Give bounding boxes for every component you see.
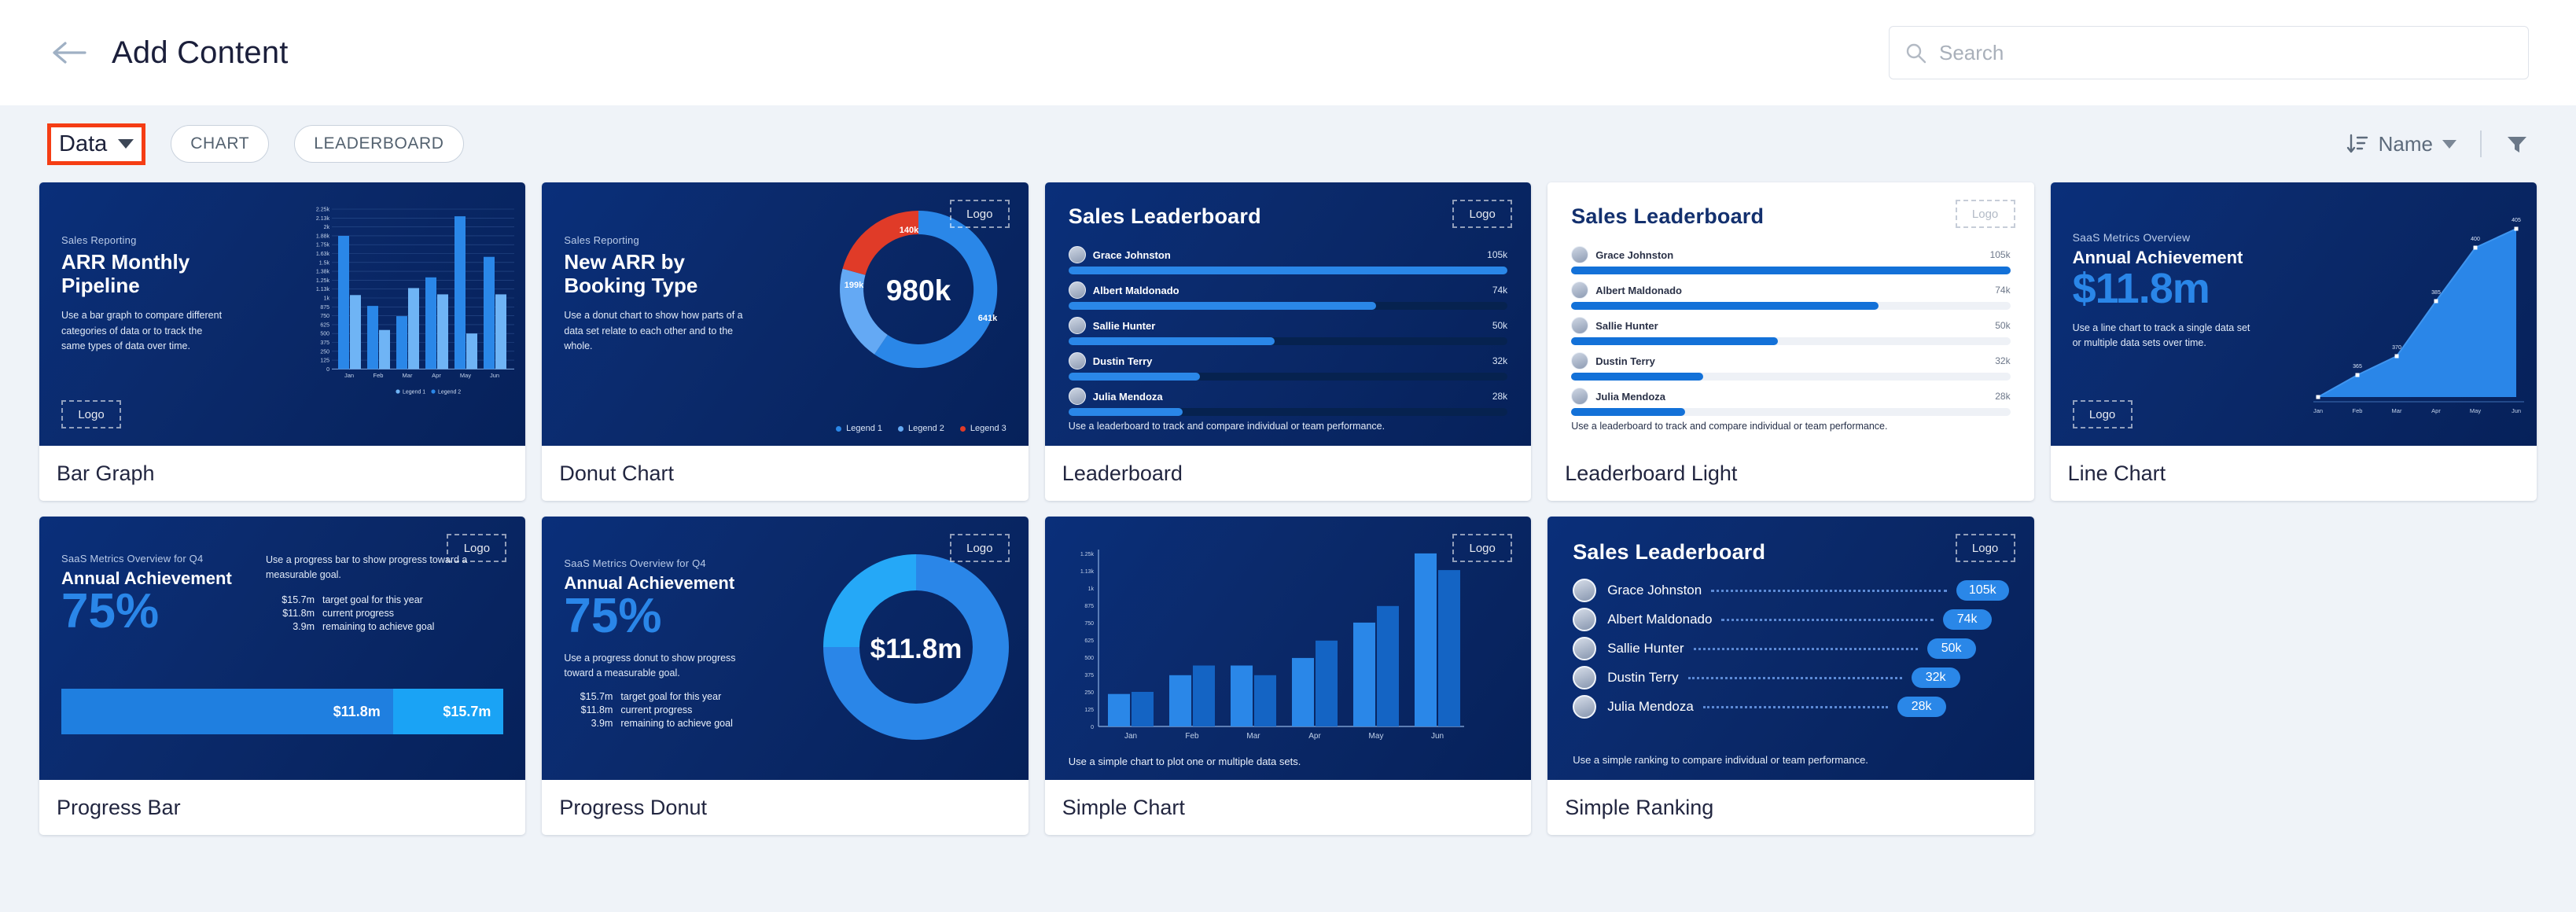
progress-donut-text: SaaS Metrics Overview for Q4 Annual Achi…	[564, 557, 743, 729]
big-number: $11.8m	[2073, 268, 2258, 310]
preview-simple-ranking: Sales Leaderboard Grace Johnston 105k Al…	[1547, 517, 2033, 780]
legend-item: Legend 1	[836, 424, 882, 433]
svg-text:625: 625	[321, 322, 330, 328]
svg-text:Jan: Jan	[2313, 407, 2323, 414]
svg-text:980k: 980k	[886, 274, 951, 307]
svg-text:Jun: Jun	[1431, 732, 1444, 741]
donut-legend: Legend 1 Legend 2 Legend 3	[836, 424, 1006, 433]
headline: New ARR by Booking Type	[564, 250, 745, 297]
sort-control[interactable]: Name	[2346, 132, 2456, 156]
blurb: Use a progress bar to show progress towa…	[266, 553, 470, 583]
logo-placeholder: Logo	[61, 400, 121, 428]
row-value: 105k	[1990, 249, 2011, 260]
row-name: Albert Maldonado	[1595, 285, 1995, 296]
progress-bar-text: SaaS Metrics Overview for Q4 Annual Achi…	[61, 553, 258, 635]
filter-bar: Data CHART LEADERBOARD Name	[0, 105, 2576, 182]
row-value: 74k	[1492, 285, 1507, 296]
leader-dots	[1711, 590, 1947, 592]
card-line-chart[interactable]: SaaS Metrics Overview Annual Achievement…	[2051, 182, 2537, 501]
progress-donut-graphic: $11.8m	[818, 543, 1014, 752]
svg-text:Feb: Feb	[1185, 732, 1199, 741]
row-name: Albert Maldonado	[1607, 612, 1712, 627]
progress-bar-graphic: $11.8m $15.7m	[61, 689, 503, 734]
row-name: Sallie Hunter	[1595, 320, 1995, 332]
svg-text:Jan: Jan	[1124, 732, 1137, 741]
row-value: 28k	[1995, 391, 2010, 402]
eyebrow: SaaS Metrics Overview for Q4	[61, 553, 258, 564]
blurb: Use a simple chart to plot one or multip…	[1069, 756, 1301, 767]
eyebrow: Sales Reporting	[564, 234, 745, 246]
svg-text:0: 0	[326, 367, 329, 373]
svg-text:370: 370	[2392, 345, 2401, 351]
filter-bar-right: Name	[2346, 105, 2529, 182]
sort-ascending-icon	[2346, 133, 2369, 155]
svg-text:Apr: Apr	[1308, 732, 1321, 741]
avatar	[1069, 281, 1086, 299]
card-leaderboard-light[interactable]: Sales Leaderboard Grace Johnston 105k Al…	[1547, 182, 2033, 501]
stat-row: $11.8m current progress	[564, 704, 743, 715]
ranking-row: Julia Mendoza 28k	[1573, 695, 2008, 719]
leaderboard-row: Julia Mendoza 28k	[1069, 388, 1507, 416]
row-name: Dustin Terry	[1595, 355, 1995, 367]
row-name: Dustin Terry	[1093, 355, 1492, 367]
svg-text:1.38k: 1.38k	[316, 270, 330, 275]
ranking-row: Grace Johnston 105k	[1573, 579, 2008, 602]
row-name: Sallie Hunter	[1093, 320, 1492, 332]
svg-text:May: May	[1368, 732, 1383, 741]
card-title: Simple Ranking	[1547, 780, 2033, 835]
stat-row: $11.8m current progress	[266, 608, 470, 619]
row-value: 74k	[1943, 609, 1992, 630]
legend-label: Legend 1	[846, 424, 882, 433]
preview-progress-donut: SaaS Metrics Overview for Q4 Annual Achi…	[542, 517, 1028, 780]
stat-row: 3.9m remaining to achieve goal	[266, 621, 470, 632]
stat-value: $11.8m	[266, 608, 315, 619]
logo-placeholder: Logo	[2073, 400, 2133, 428]
svg-text:Jun: Jun	[490, 372, 499, 379]
avatar	[1571, 317, 1588, 334]
eyebrow: Sales Reporting	[61, 234, 226, 246]
svg-text:1k: 1k	[1087, 587, 1094, 592]
legend-label: Legend 3	[970, 424, 1006, 433]
legend-dot-icon	[836, 426, 841, 432]
svg-text:400: 400	[2471, 237, 2480, 242]
logo-placeholder: Logo	[1452, 200, 1512, 228]
leaderboard-row: Julia Mendoza 28k	[1571, 388, 2010, 416]
page-title: Add Content	[112, 35, 289, 71]
leaderboard-row: Dustin Terry 32k	[1571, 352, 2010, 381]
svg-text:2.25k: 2.25k	[316, 208, 330, 213]
avatar	[1571, 281, 1588, 299]
stat-value: $11.8m	[564, 704, 613, 715]
leaderboard-row: Sallie Hunter 50k	[1571, 317, 2010, 345]
leaderboard-row: Albert Maldonado 74k	[1069, 281, 1507, 310]
preview-donut-chart: Sales Reporting New ARR by Booking Type …	[542, 182, 1028, 446]
eyebrow: SaaS Metrics Overview for Q4	[564, 557, 743, 569]
stat-row: $15.7m target goal for this year	[564, 691, 743, 702]
legend-label: Legend 2	[908, 424, 944, 433]
stat-text: target goal for this year	[620, 691, 721, 702]
svg-text:2k: 2k	[324, 225, 330, 230]
svg-text:Feb: Feb	[374, 372, 384, 379]
svg-text:Mar: Mar	[1246, 732, 1260, 741]
eyebrow: SaaS Metrics Overview	[2073, 231, 2258, 244]
svg-text:500: 500	[321, 332, 330, 337]
leaderboard-rows: Grace Johnston 105k Albert Maldonado 74k…	[1069, 246, 1507, 416]
back-arrow-icon[interactable]	[47, 31, 91, 75]
preview-line-chart: SaaS Metrics Overview Annual Achievement…	[2051, 182, 2537, 446]
avatar	[1069, 317, 1086, 334]
blurb: Use a simple ranking to compare individu…	[1573, 754, 1868, 766]
leader-dots	[1721, 619, 1933, 621]
blurb: Use a line chart to track a single data …	[2073, 321, 2258, 351]
donut-center-label: $11.8m	[870, 634, 962, 664]
row-name: Julia Mendoza	[1607, 699, 1694, 715]
svg-text:125: 125	[1084, 708, 1094, 713]
logo-placeholder: Logo	[1452, 534, 1512, 562]
svg-text:405: 405	[2512, 218, 2521, 223]
svg-text:250: 250	[321, 349, 330, 355]
progress-goal: $15.7m	[393, 689, 504, 734]
blurb: Use a bar graph to compare different cat…	[61, 308, 226, 354]
avatar	[1573, 695, 1596, 719]
svg-text:1.75k: 1.75k	[316, 243, 330, 248]
svg-text:Apr: Apr	[2431, 407, 2441, 414]
row-name: Dustin Terry	[1607, 670, 1678, 686]
card-leaderboard[interactable]: Sales Leaderboard Grace Johnston 105k Al…	[1045, 182, 1531, 501]
stat-text: current progress	[322, 608, 394, 619]
svg-text:199k: 199k	[845, 281, 864, 290]
stat-text: remaining to achieve goal	[322, 621, 434, 632]
row-value: 28k	[1492, 391, 1507, 402]
blurb: Use a leaderboard to track and compare i…	[1571, 421, 1887, 432]
svg-text:250: 250	[1084, 690, 1094, 696]
row-value: 50k	[1927, 638, 1976, 659]
avatar	[1571, 352, 1588, 370]
avatar	[1069, 246, 1086, 263]
svg-text:750: 750	[321, 314, 330, 319]
svg-text:Jan: Jan	[344, 372, 354, 379]
preview-bar-graph: Sales Reporting ARR Monthly Pipeline Use…	[39, 182, 525, 446]
chevron-down-icon	[118, 139, 134, 149]
stat-text: current progress	[620, 704, 692, 715]
legend-dot-icon	[898, 426, 903, 432]
search-icon	[1905, 42, 1926, 64]
row-value: 32k	[1912, 667, 1960, 688]
logo-placeholder: Logo	[950, 534, 1010, 562]
svg-text:875: 875	[1084, 604, 1094, 609]
headline: ARR Monthly Pipeline	[61, 250, 226, 297]
card-title: Leaderboard Light	[1547, 446, 2033, 501]
row-value: 28k	[1897, 697, 1946, 717]
content-grid: Sales Reporting ARR Monthly Pipeline Use…	[0, 182, 2576, 835]
avatar	[1571, 246, 1588, 263]
stat-value: 3.9m	[564, 718, 613, 729]
card-title: Bar Graph	[39, 446, 525, 501]
leader-dots	[1703, 706, 1888, 708]
ranking-row: Dustin Terry 32k	[1573, 666, 2008, 690]
leaderboard-rows: Grace Johnston 105k Albert Maldonado 74k…	[1571, 246, 2010, 416]
avatar	[1069, 388, 1086, 405]
avatar	[1573, 579, 1596, 602]
search-box[interactable]	[1889, 26, 2529, 79]
preview-simple-chart: 1.25k 1.13k 1k 875 750 625 500 375 250 1…	[1045, 517, 1531, 780]
row-name: Julia Mendoza	[1595, 391, 1995, 403]
chip-chart[interactable]: CHART	[171, 125, 269, 163]
row-value: 74k	[1995, 285, 2010, 296]
card-simple-ranking[interactable]: Sales Leaderboard Grace Johnston 105k Al…	[1547, 517, 2033, 835]
svg-text:Mar: Mar	[403, 372, 413, 379]
leaderboard-row: Grace Johnston 105k	[1069, 246, 1507, 274]
svg-text:1.13k: 1.13k	[316, 287, 330, 292]
svg-text:1.25k: 1.25k	[316, 278, 330, 284]
donut-chart-text: Sales Reporting New ARR by Booking Type …	[564, 234, 745, 354]
big-number: 75%	[61, 589, 258, 635]
svg-text:625: 625	[1084, 638, 1094, 644]
svg-text:125: 125	[321, 359, 330, 364]
svg-text:1k: 1k	[324, 296, 330, 302]
leaderboard-row: Albert Maldonado 74k	[1571, 281, 2010, 310]
svg-text:Apr: Apr	[432, 372, 442, 379]
stat-row: $15.7m target goal for this year	[266, 594, 470, 605]
logo-placeholder: Logo	[447, 534, 506, 562]
leader-dots	[1688, 677, 1902, 679]
bar-graph-text: Sales Reporting ARR Monthly Pipeline Use…	[61, 234, 226, 354]
card-title: Line Chart	[2051, 446, 2537, 501]
legend-item: Legend 3	[960, 424, 1006, 433]
bar-graph-chart: 2.25k 2.13k 2k 1.88k 1.75k 1.63k 1.5k 1.…	[304, 203, 516, 399]
svg-text:375: 375	[1084, 673, 1094, 678]
avatar	[1573, 666, 1596, 690]
card-title: Progress Donut	[542, 780, 1028, 835]
row-name: Julia Mendoza	[1093, 391, 1492, 403]
row-value: 32k	[1492, 355, 1507, 366]
avatar	[1069, 352, 1086, 370]
card-progress-bar[interactable]: SaaS Metrics Overview for Q4 Annual Achi…	[39, 517, 525, 835]
line-chart-text: SaaS Metrics Overview Annual Achievement…	[2073, 231, 2258, 351]
stat-value: 3.9m	[266, 621, 315, 632]
stat-row: 3.9m remaining to achieve goal	[564, 718, 743, 729]
line-chart-graphic: 365 370 385 400 405 Jan Feb Mar Apr May …	[2310, 200, 2530, 428]
svg-text:1.63k: 1.63k	[316, 252, 330, 257]
row-value: 105k	[1487, 249, 1507, 260]
preview-progress-bar: SaaS Metrics Overview for Q4 Annual Achi…	[39, 517, 525, 780]
card-simple-chart[interactable]: 1.25k 1.13k 1k 875 750 625 500 375 250 1…	[1045, 517, 1531, 835]
preview-leaderboard: Sales Leaderboard Grace Johnston 105k Al…	[1045, 182, 1531, 446]
svg-text:750: 750	[1084, 621, 1094, 627]
row-value: 50k	[1995, 320, 2010, 331]
legend-dot-icon	[960, 426, 966, 432]
row-value: 105k	[1956, 580, 2009, 601]
headline: Sales Leaderboard	[1069, 204, 1507, 229]
svg-text:375: 375	[321, 340, 330, 346]
progress-bar-stats: Use a progress bar to show progress towa…	[266, 553, 470, 632]
headline: Sales Leaderboard	[1571, 204, 2010, 229]
chip-leaderboard[interactable]: LEADERBOARD	[294, 125, 463, 163]
blurb: Use a donut chart to show how parts of a…	[564, 308, 745, 354]
logo-placeholder: Logo	[950, 200, 1010, 228]
card-title: Simple Chart	[1045, 780, 1531, 835]
avatar	[1573, 637, 1596, 660]
card-bar-graph[interactable]: Sales Reporting ARR Monthly Pipeline Use…	[39, 182, 525, 501]
funnel-icon[interactable]	[2505, 133, 2529, 155]
svg-text:500: 500	[1084, 656, 1094, 661]
svg-text:Jun: Jun	[2512, 407, 2521, 414]
row-name: Grace Johnston	[1595, 249, 1989, 261]
stat-text: target goal for this year	[322, 594, 423, 605]
logo-placeholder: Logo	[1956, 534, 2015, 562]
svg-text:Mar: Mar	[2392, 407, 2402, 414]
chevron-down-icon	[2442, 140, 2456, 149]
card-title: Donut Chart	[542, 446, 1028, 501]
svg-text:140k: 140k	[900, 226, 919, 235]
blurb: Use a progress donut to show progress to…	[564, 651, 743, 682]
stat-value: $15.7m	[564, 691, 613, 702]
row-value: 32k	[1995, 355, 2010, 366]
leaderboard-row: Dustin Terry 32k	[1069, 352, 1507, 381]
row-name: Grace Johnston	[1093, 249, 1487, 261]
leaderboard-row: Grace Johnston 105k	[1571, 246, 2010, 274]
headline: Sales Leaderboard	[1573, 540, 2008, 564]
stat-text: remaining to achieve goal	[620, 718, 732, 729]
legend-item: Legend 2	[898, 424, 944, 433]
avatar	[1571, 388, 1588, 405]
avatar	[1573, 608, 1596, 631]
svg-text:875: 875	[321, 305, 330, 311]
svg-text:1.25k: 1.25k	[1080, 552, 1095, 557]
svg-text:May: May	[2470, 407, 2481, 414]
svg-text:365: 365	[2353, 364, 2362, 370]
data-dropdown-label: Data	[59, 131, 107, 157]
stat-value: $15.7m	[266, 594, 315, 605]
svg-text:Feb: Feb	[2353, 407, 2363, 414]
ranking-row: Albert Maldonado 74k	[1573, 608, 2008, 631]
search-input[interactable]	[1939, 41, 2512, 65]
data-dropdown[interactable]: Data	[47, 123, 145, 165]
svg-text:May: May	[460, 372, 471, 379]
row-value: 50k	[1492, 320, 1507, 331]
progress-current: $11.8m	[61, 689, 393, 734]
row-name: Sallie Hunter	[1607, 641, 1684, 656]
preview-leaderboard-light: Sales Leaderboard Grace Johnston 105k Al…	[1547, 182, 2033, 446]
svg-text:385: 385	[2431, 290, 2441, 296]
card-donut-chart[interactable]: Sales Reporting New ARR by Booking Type …	[542, 182, 1028, 501]
ranking-row: Sallie Hunter 50k	[1573, 637, 2008, 660]
top-bar: Add Content	[0, 0, 2576, 105]
svg-text:2.13k: 2.13k	[316, 216, 330, 222]
svg-text:0: 0	[1091, 725, 1094, 730]
svg-text:1.5k: 1.5k	[319, 260, 330, 266]
svg-text:Legend 2: Legend 2	[438, 390, 461, 395]
svg-text:1.88k: 1.88k	[316, 234, 330, 239]
row-name: Albert Maldonado	[1093, 285, 1492, 296]
divider	[2480, 131, 2482, 157]
simple-chart-graphic: 1.25k 1.13k 1k 875 750 625 500 375 250 1…	[1059, 534, 1468, 745]
big-number: 75%	[564, 594, 743, 640]
svg-text:641k: 641k	[978, 314, 998, 323]
card-progress-donut[interactable]: SaaS Metrics Overview for Q4 Annual Achi…	[542, 517, 1028, 835]
svg-text:Legend 1: Legend 1	[403, 390, 425, 395]
logo-placeholder: Logo	[1956, 200, 2015, 228]
blurb: Use a leaderboard to track and compare i…	[1069, 421, 1385, 432]
leaderboard-row: Sallie Hunter 50k	[1069, 317, 1507, 345]
row-name: Grace Johnston	[1607, 583, 1702, 598]
svg-text:1.13k: 1.13k	[1080, 569, 1095, 575]
leader-dots	[1694, 648, 1918, 650]
card-title: Progress Bar	[39, 780, 525, 835]
card-title: Leaderboard	[1045, 446, 1531, 501]
sort-label: Name	[2379, 132, 2433, 156]
